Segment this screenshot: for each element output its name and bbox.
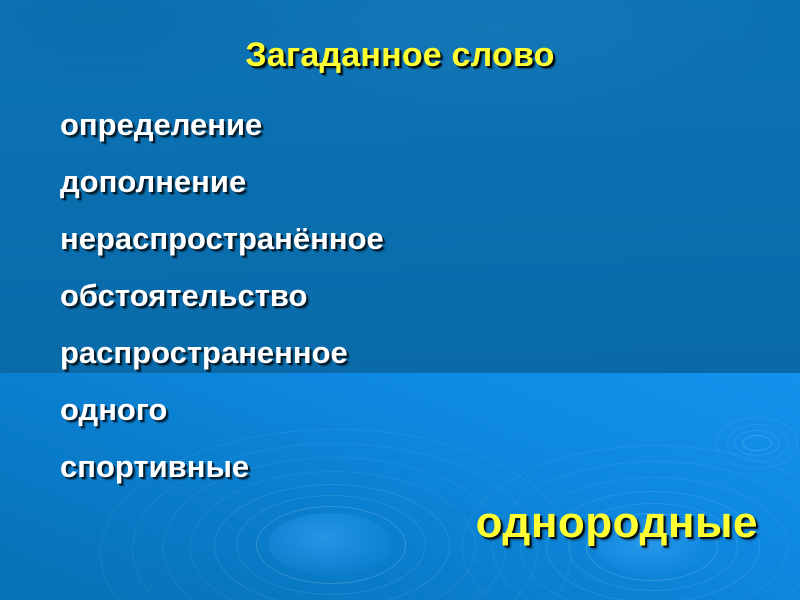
water-ripple-ring [256,506,406,584]
answer-word: однородные [476,498,758,548]
page-title: Загаданное слово [0,36,800,75]
list-item: дополнение [60,153,780,210]
list-item: одного [60,381,780,438]
list-item: нераспространённое [60,210,780,267]
water-ripple-ring [214,484,450,600]
list-item: спортивные [60,438,780,495]
water-ripple-core-left [268,513,392,575]
water-ripple-ring [236,495,426,595]
list-item: обстоятельство [60,267,780,324]
presentation-slide: Загаданное слово определение дополнение … [0,0,800,600]
list-item: определение [60,96,780,153]
list-item: распространенное [60,324,780,381]
word-list: определение дополнение нераспространённо… [60,96,780,495]
